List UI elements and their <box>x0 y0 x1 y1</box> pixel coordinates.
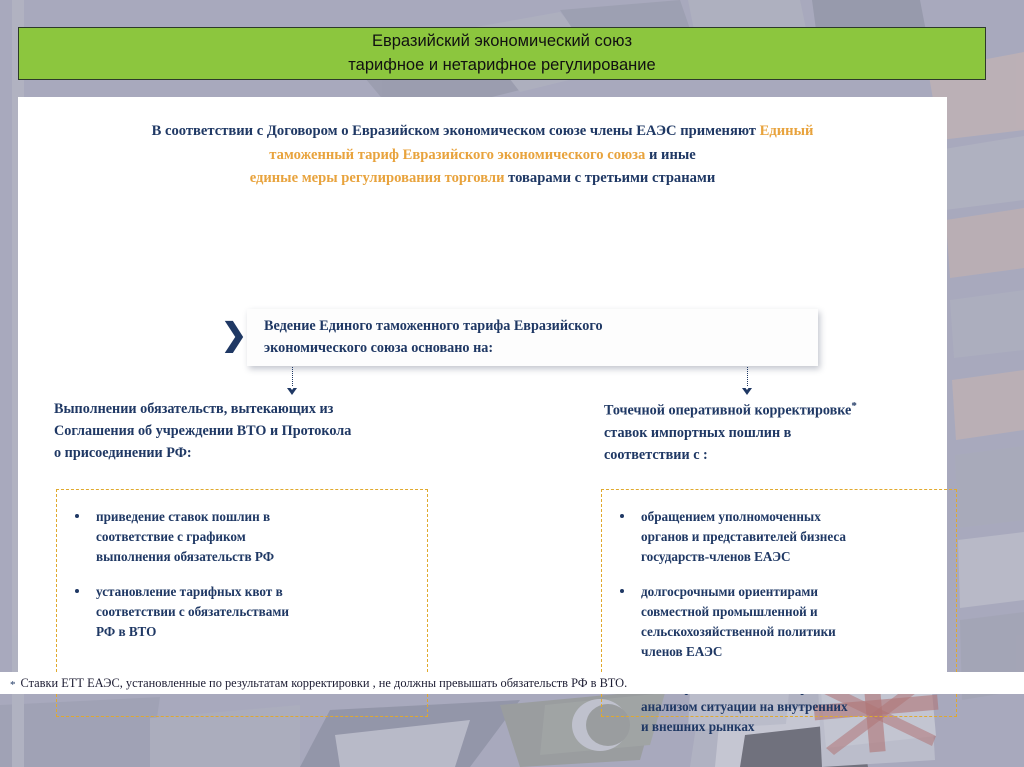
list-item: установление тарифных квот в соответстви… <box>71 582 413 641</box>
footnote-asterisk: * <box>10 679 16 691</box>
bullet-dot-icon <box>75 589 79 593</box>
list-item: долгосрочными ориентирами совместной про… <box>616 582 942 661</box>
left-heading-line-1: Выполнении обязательств, вытекающих из <box>54 398 524 420</box>
bullet-line: приведение ставок пошлин в <box>96 507 413 527</box>
footnote-bar: * Ставки ЕТТ ЕАЭС, установленные по резу… <box>0 672 1024 694</box>
bullet-line: установление тарифных квот в <box>96 582 413 602</box>
left-heading-line-3: о присоединении РФ: <box>54 442 524 464</box>
right-heading-line-2: ставок импортных пошлин в <box>604 422 954 444</box>
bullet-line: органов и представителей бизнеса <box>641 527 942 547</box>
arrow-down-icon <box>742 388 752 395</box>
intro-line2: таможенный тариф Евразийского экономичес… <box>18 144 947 168</box>
right-heading-line-3: соответствии с : <box>604 444 954 466</box>
chevron-right-icon: ❯ <box>221 319 247 350</box>
left-heading-line-2: Соглашения об учреждении ВТО и Протокола <box>54 420 524 442</box>
right-bullet-list: обращением уполномоченных органов и пред… <box>616 507 942 737</box>
intro-line3: единые меры регулирования торговли товар… <box>18 167 947 191</box>
bullet-line: выполнения обязательств РФ <box>96 547 413 567</box>
bullet-line: и внешних рынках <box>641 717 942 737</box>
footnote-text: Ставки ЕТТ ЕАЭС, установленные по резуль… <box>21 676 628 691</box>
bullet-line: обращением уполномоченных <box>641 507 942 527</box>
left-bullet-list: приведение ставок пошлин в соответствие … <box>71 507 413 642</box>
bullet-line: долгосрочными ориентирами <box>641 582 942 602</box>
content-panel: В соответствии с Договором о Евразийском… <box>18 97 947 694</box>
title-banner: Евразийский экономический союз тарифное … <box>18 27 986 80</box>
list-item: приведение ставок пошлин в соответствие … <box>71 507 413 566</box>
bullet-dot-icon <box>620 589 624 593</box>
bullet-dot-icon <box>75 514 79 518</box>
bullet-line: совместной промышленной и <box>641 602 942 622</box>
intro-line1-plain: В соответствии с Договором о Евразийском… <box>152 123 760 139</box>
title-line-1: Евразийский экономический союз <box>372 30 632 54</box>
callout-line-2: экономического союза основано на: <box>264 338 818 359</box>
list-item: обращением уполномоченных органов и пред… <box>616 507 942 566</box>
intro-line2-plain: и иные <box>645 147 695 163</box>
right-heading-line-1: Точечной оперативной корректировке* <box>604 398 954 422</box>
bullet-line: членов ЕАЭС <box>641 642 942 662</box>
connector-arrow-right <box>741 367 753 395</box>
right-column-heading: Точечной оперативной корректировке* став… <box>604 398 954 466</box>
bullet-line: соответствии с обязательствами <box>96 602 413 622</box>
left-column-heading: Выполнении обязательств, вытекающих из С… <box>54 398 524 464</box>
callout-box: Ведение Единого таможенного тарифа Евраз… <box>247 309 818 366</box>
bullet-line: сельскохозяйственной политики <box>641 622 942 642</box>
bullet-line: соответствие с графиком <box>96 527 413 547</box>
connector-stem <box>747 367 748 388</box>
footnote-marker-superscript: * <box>851 400 857 412</box>
callout-line-1: Ведение Единого таможенного тарифа Евраз… <box>264 316 818 337</box>
bullet-line: государств-членов ЕАЭС <box>641 547 942 567</box>
intro-line3-highlight: единые меры регулирования торговли <box>250 170 505 186</box>
bullet-dot-icon <box>620 514 624 518</box>
title-line-2: тарифное и нетарифное регулирование <box>348 54 655 78</box>
connector-arrow-left <box>286 367 298 395</box>
right-heading-line-1-text: Точечной оперативной корректировке <box>604 403 851 419</box>
intro-line3-plain: товарами с третьими странами <box>504 170 715 186</box>
intro-line1-highlight: Единый <box>760 123 814 139</box>
arrow-down-icon <box>287 388 297 395</box>
bullet-line: РФ в ВТО <box>96 622 413 642</box>
intro-line2-highlight: таможенный тариф Евразийского экономичес… <box>269 147 645 163</box>
bullet-line: анализом ситуации на внутренних <box>641 697 942 717</box>
intro-paragraph: В соответствии с Договором о Евразийском… <box>18 120 947 191</box>
connector-stem <box>292 367 293 388</box>
